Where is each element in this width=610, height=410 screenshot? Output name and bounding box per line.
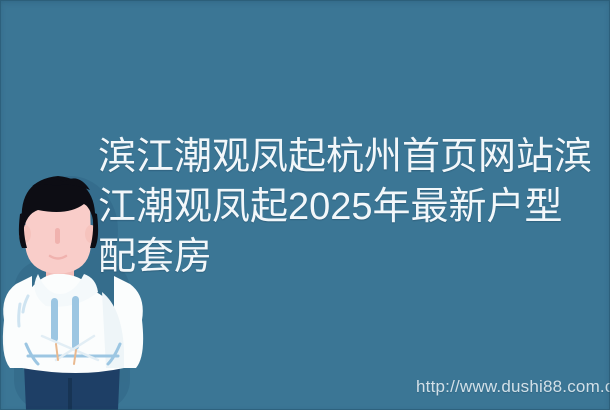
promo-banner: 滨江潮观凤起杭州首页网站滨江潮观凤起2025年最新户型配套房 http://ww… [0, 0, 610, 410]
nose [55, 228, 60, 244]
page-title: 滨江潮观凤起杭州首页网站滨江潮观凤起2025年最新户型配套房 [98, 132, 598, 282]
watermark-url: http://www.dushi88.com.cn [416, 377, 610, 397]
